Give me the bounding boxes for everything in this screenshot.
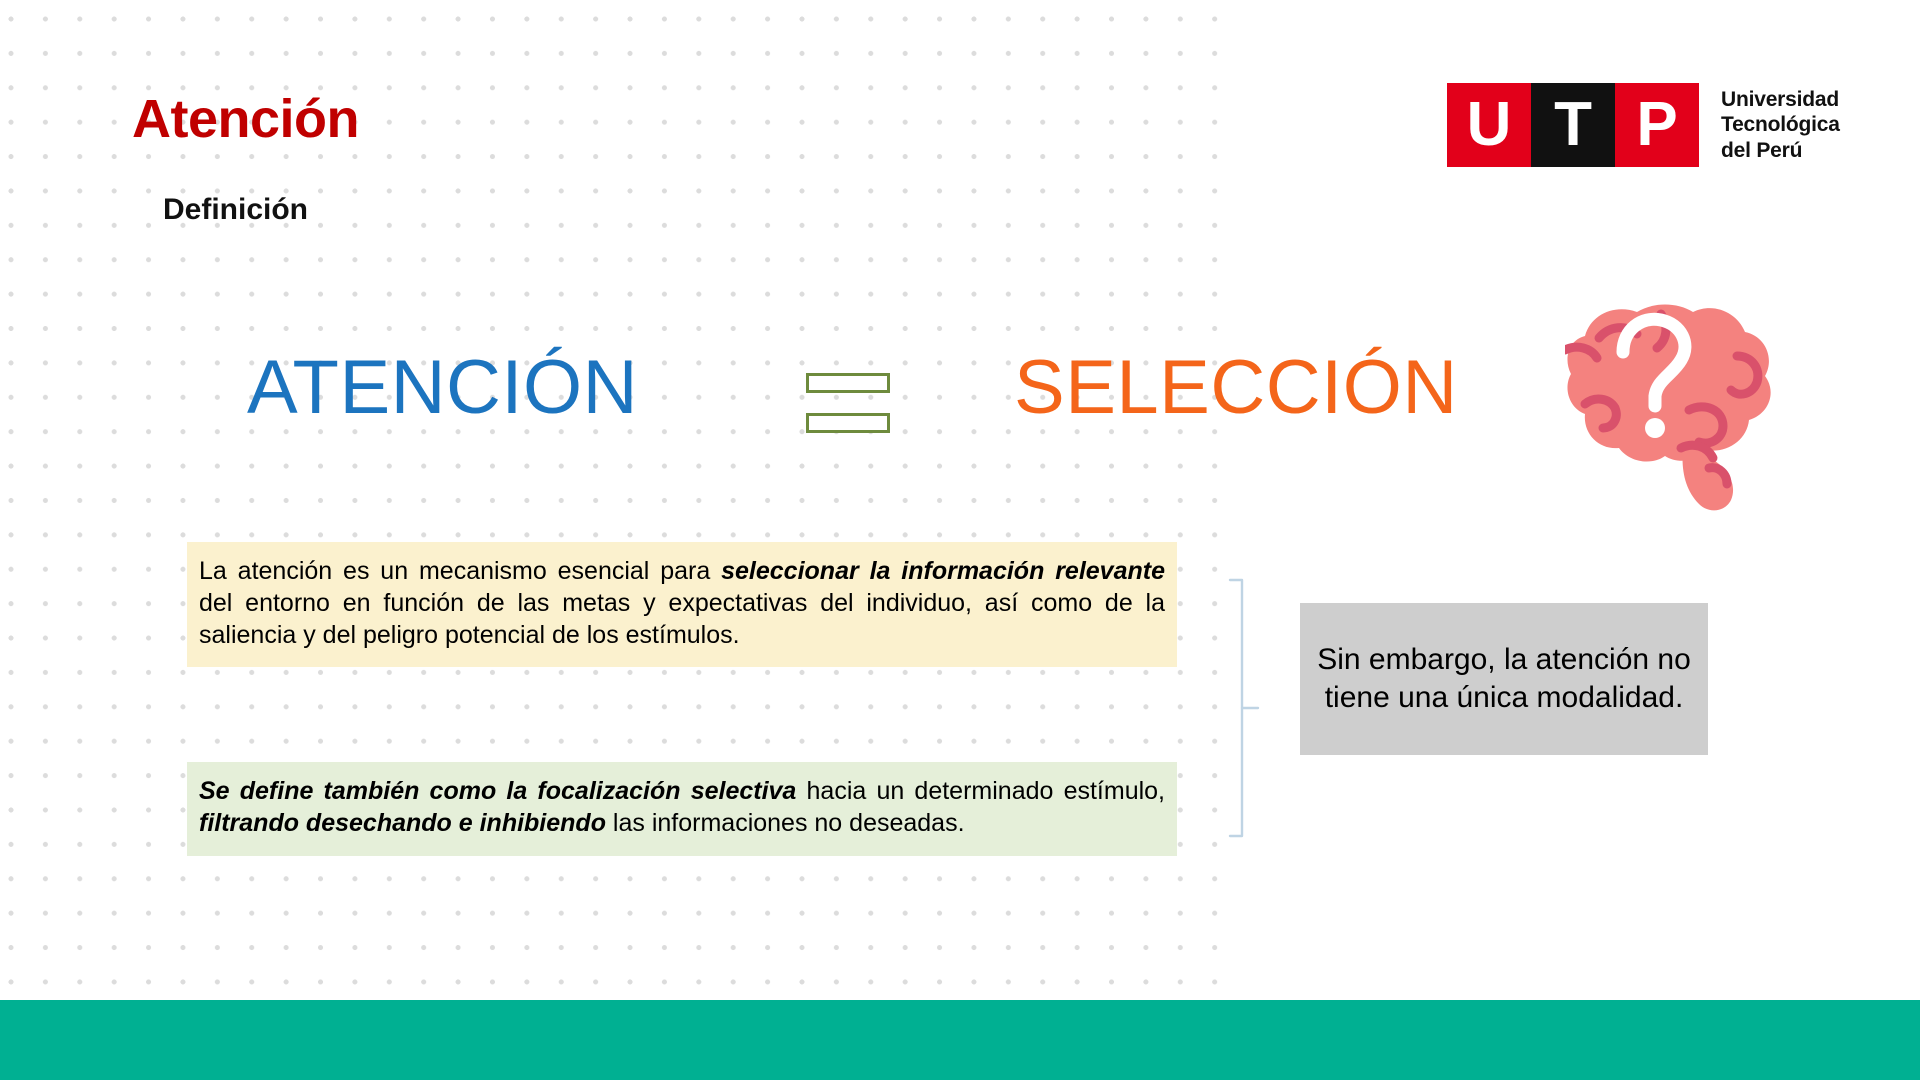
definition-run-plain-2: del entorno en función de las metas y ex… bbox=[199, 589, 1165, 649]
utp-logo-blocks: U T P bbox=[1447, 83, 1699, 167]
equation-left-term: ATENCIÓN bbox=[247, 340, 638, 435]
equals-bar-bottom bbox=[806, 413, 890, 433]
utp-logo-letter-u: U bbox=[1447, 83, 1531, 167]
definition-card-secondary-text: Se define también como la focalización s… bbox=[199, 776, 1165, 840]
definition-run-emphasis-1: seleccionar la información relevante bbox=[721, 557, 1165, 585]
definition-card-primary: La atención es un mecanismo esencial par… bbox=[187, 542, 1177, 667]
callout-text: Sin embargo, la atención no tiene una ún… bbox=[1314, 641, 1694, 717]
equals-bar-top bbox=[806, 373, 890, 393]
utp-wordmark: Universidad Tecnológica del Perú bbox=[1721, 87, 1840, 164]
definition-card-secondary: Se define también como la focalización s… bbox=[187, 762, 1177, 856]
equals-sign-icon bbox=[806, 373, 890, 433]
equation-right-term: SELECCIÓN bbox=[1014, 340, 1458, 435]
utp-logo-letter-p: P bbox=[1615, 83, 1699, 167]
utp-logo: U T P Universidad Tecnológica del Perú bbox=[1447, 83, 1840, 167]
footer-bar bbox=[0, 1000, 1920, 1080]
page-subtitle: Definición bbox=[163, 195, 308, 225]
definition2-run-plain-1: hacia un determinado estímulo, bbox=[796, 777, 1165, 805]
definition-run-plain-1: La atención es un mecanismo esencial par… bbox=[199, 557, 721, 585]
bracket-connector bbox=[1228, 578, 1262, 838]
definition2-run-plain-2: las informaciones no deseadas. bbox=[606, 809, 965, 837]
slide-canvas: Atención Definición U T P Universidad Te… bbox=[0, 0, 1920, 1080]
definition2-run-emphasis-2: filtrando desechando e inhibiendo bbox=[199, 809, 606, 837]
definition2-run-emphasis-1: Se define también como la focalización s… bbox=[199, 777, 796, 805]
callout-box: Sin embargo, la atención no tiene una ún… bbox=[1300, 603, 1708, 755]
page-title: Atención bbox=[132, 92, 359, 146]
definition-card-primary-text: La atención es un mecanismo esencial par… bbox=[199, 556, 1165, 651]
utp-logo-letter-t: T bbox=[1531, 83, 1615, 167]
brain-question-mark-icon bbox=[1565, 300, 1795, 515]
